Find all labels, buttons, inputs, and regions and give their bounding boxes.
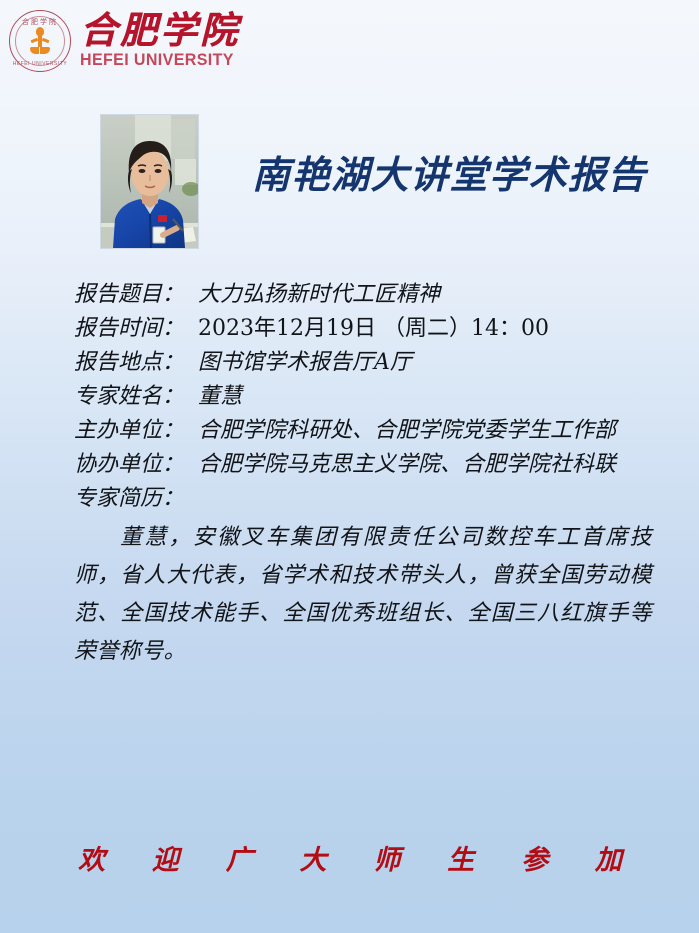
poster-canvas: 合肥学院 HEFEI UNIVERSITY 合肥学院 HEFEI UNIVERS… — [0, 0, 699, 933]
speaker-bio-text: 董慧，安徽叉车集团有限责任公司数控车工首席技师，省人大代表，省学术和技术带头人，… — [74, 519, 652, 671]
university-name-english: HEFEI UNIVERSITY — [80, 51, 235, 70]
info-label-coorganizer: 协办单位： — [74, 446, 198, 478]
university-seal-icon: 合肥学院 HEFEI UNIVERSITY — [8, 9, 74, 75]
welcome-char-5: 师 — [373, 838, 401, 877]
info-value-venue: 图书馆学术报告厅A厅 — [198, 344, 412, 376]
speaker-photo — [100, 114, 199, 249]
info-row-venue: 报告地点： 图书馆学术报告厅A厅 — [74, 344, 674, 378]
info-row-coorganizer: 协办单位： 合肥学院马克思主义学院、合肥学院社科联 — [74, 446, 674, 480]
info-label-topic: 报告题目： — [74, 276, 198, 308]
info-label-speaker: 专家姓名： — [74, 378, 198, 410]
welcome-char-8: 加 — [595, 838, 623, 877]
info-value-time: 2023年12月19日 （周二）14：00 — [198, 310, 549, 342]
university-name-chinese: 合肥学院 — [80, 10, 240, 50]
header-banner: 合肥学院 HEFEI UNIVERSITY 合肥学院 HEFEI UNIVERS… — [0, 0, 699, 86]
info-label-bio: 专家简历： — [74, 480, 198, 512]
welcome-line: 欢 迎 广 大 师 生 参 加 — [78, 838, 623, 877]
page-title: 南艳湖大讲堂学术报告 — [252, 152, 632, 198]
info-row-speaker: 专家姓名： 董慧 — [74, 378, 674, 412]
welcome-char-6: 生 — [447, 838, 475, 877]
book-spine — [39, 47, 40, 54]
info-label-venue: 报告地点： — [74, 344, 198, 376]
welcome-char-4: 大 — [300, 838, 328, 877]
info-row-topic: 报告题目： 大力弘扬新时代工匠精神 — [74, 276, 674, 310]
torch-arm-right — [42, 38, 50, 44]
seal-english-text: HEFEI UNIVERSITY — [10, 61, 71, 67]
info-value-topic: 大力弘扬新时代工匠精神 — [198, 276, 440, 308]
university-logo: 合肥学院 HEFEI UNIVERSITY 合肥学院 HEFEI UNIVERS… — [8, 8, 240, 75]
info-value-coorganizer: 合肥学院马克思主义学院、合肥学院社科联 — [198, 446, 616, 478]
university-name-block: 合肥学院 HEFEI UNIVERSITY — [80, 8, 240, 70]
seal-chinese-text: 合肥学院 — [8, 17, 72, 27]
welcome-char-3: 广 — [226, 838, 254, 877]
speaker-photo-image — [101, 115, 198, 248]
info-list: 报告题目： 大力弘扬新时代工匠精神 报告时间： 2023年12月19日 （周二）… — [74, 276, 674, 514]
welcome-char-1: 欢 — [78, 838, 106, 877]
info-row-organizer: 主办单位： 合肥学院科研处、合肥学院党委学生工作部 — [74, 412, 674, 446]
info-row-time: 报告时间： 2023年12月19日 （周二）14：00 — [74, 310, 674, 344]
welcome-char-7: 参 — [521, 838, 549, 877]
info-value-organizer: 合肥学院科研处、合肥学院党委学生工作部 — [198, 412, 616, 444]
info-row-bio-heading: 专家简历： — [74, 480, 674, 514]
seal-torch-book-icon — [30, 27, 50, 57]
info-label-time: 报告时间： — [74, 310, 198, 342]
welcome-char-2: 迎 — [152, 838, 180, 877]
info-label-organizer: 主办单位： — [74, 412, 198, 444]
info-value-speaker: 董慧 — [198, 378, 242, 410]
